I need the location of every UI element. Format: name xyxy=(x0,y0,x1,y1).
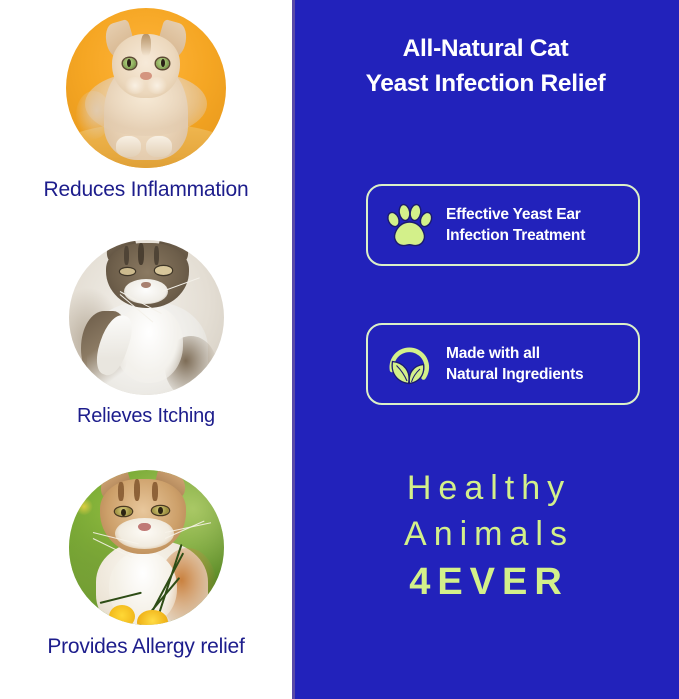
brand-line-3: 4EVER xyxy=(292,559,679,605)
feature-caption: Provides Allergy relief xyxy=(0,635,292,659)
features-panel: Reduces Inflammation xyxy=(0,0,292,699)
feature-caption: Relieves Itching xyxy=(0,405,292,428)
badge-label-line-1: Made with all xyxy=(446,343,583,364)
headline-line-1: All-Natural Cat xyxy=(292,32,679,67)
page-title: All-Natural Cat Yeast Infection Relief xyxy=(292,32,679,102)
brand-logo-text: Healthy Animals 4EVER xyxy=(292,466,679,605)
brand-line-2: Animals xyxy=(292,512,679,558)
feature-item: Provides Allergy relief xyxy=(0,470,292,659)
badge-made-with-all-natural-ingredients: Made with all Natural Ingredients xyxy=(366,323,640,405)
paw-print-icon xyxy=(380,196,438,254)
badge-label: Made with all Natural Ingredients xyxy=(446,343,583,385)
leaf-circle-icon xyxy=(380,335,438,393)
badge-label-line-2: Natural Ingredients xyxy=(446,364,583,385)
cat-photo-allergy xyxy=(69,470,224,625)
brand-line-1: Healthy xyxy=(292,466,679,512)
badge-label: Effective Yeast Ear Infection Treatment xyxy=(446,204,585,246)
cat-photo-itching xyxy=(69,240,224,395)
headline-line-2: Yeast Infection Relief xyxy=(292,67,679,102)
badge-effective-yeast-ear-infection-treatment: Effective Yeast Ear Infection Treatment xyxy=(366,184,640,266)
feature-item: Reduces Inflammation xyxy=(0,8,292,202)
badge-label-line-1: Effective Yeast Ear xyxy=(446,204,585,225)
product-infographic: Reduces Inflammation xyxy=(0,0,679,699)
feature-caption: Reduces Inflammation xyxy=(0,178,292,202)
badge-label-line-2: Infection Treatment xyxy=(446,225,585,246)
feature-item: Relieves Itching xyxy=(0,240,292,428)
brand-panel: All-Natural Cat Yeast Infection Relief E… xyxy=(292,0,679,699)
cat-photo-inflammation xyxy=(66,8,226,168)
